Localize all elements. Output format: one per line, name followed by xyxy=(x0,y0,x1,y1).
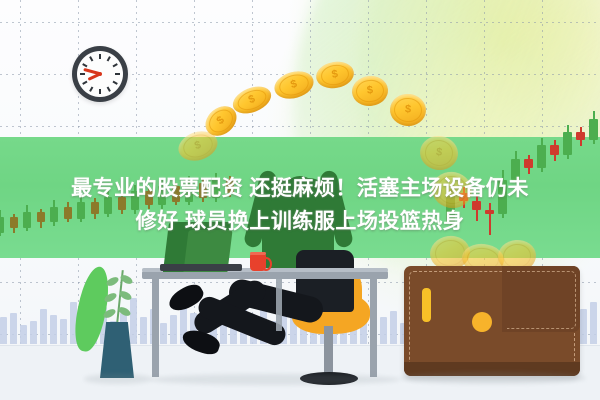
desk-leg-left xyxy=(152,279,159,377)
wallet-flap-stitching xyxy=(507,271,576,329)
chair-post xyxy=(324,326,333,378)
gold-coin: $ xyxy=(418,134,460,173)
wallet-shadow xyxy=(400,372,586,384)
coin-dollar-sign: $ xyxy=(352,84,389,99)
gold-coin: $ xyxy=(351,74,390,108)
coin-dollar-sign: $ xyxy=(204,106,237,136)
headline-line-1: 最专业的股票配资 还挺麻烦！活塞主场设备仍未 xyxy=(0,172,600,205)
coin-dollar-sign: $ xyxy=(390,103,427,116)
wallet xyxy=(404,266,580,376)
coin-dollar-sign: $ xyxy=(231,87,272,112)
coin-dollar-sign: $ xyxy=(419,145,458,161)
coin-dollar-sign: $ xyxy=(315,66,354,83)
coffee-mug xyxy=(250,254,266,271)
desk-top xyxy=(142,271,388,279)
gold-coin: $ xyxy=(314,59,356,91)
mug-handle xyxy=(260,257,272,271)
plant-shadow xyxy=(84,374,152,384)
coin-dollar-sign: $ xyxy=(273,74,314,96)
desk-leg-right xyxy=(370,279,377,377)
desk-shadow xyxy=(150,374,400,385)
mug-rim xyxy=(250,252,266,255)
laptop-base xyxy=(160,264,242,271)
banner-image: $$$$$$$$$ xyxy=(0,0,600,400)
gold-coin: $ xyxy=(271,67,317,103)
headline-line-2: 修好 球员换上训练服上场投篮热身 xyxy=(0,205,600,238)
wallet-clasp-button xyxy=(472,312,492,332)
desk-leg-mid xyxy=(276,279,282,331)
wallet-card-edge xyxy=(422,288,431,322)
gold-coin: $ xyxy=(389,93,427,127)
coin-dollar-sign: $ xyxy=(177,135,218,158)
